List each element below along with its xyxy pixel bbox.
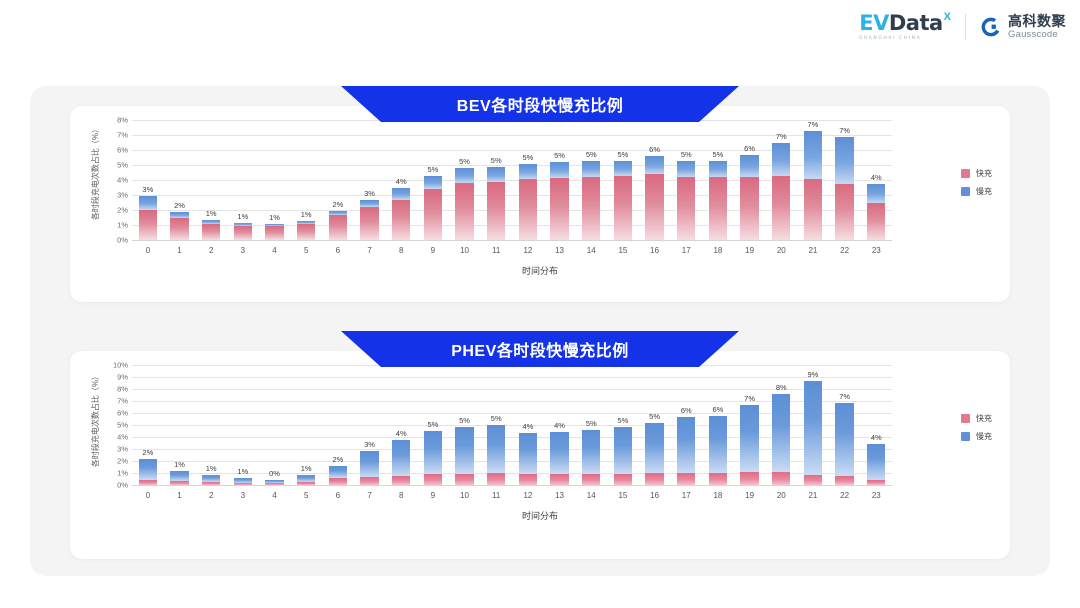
bar-stack[interactable]: [392, 440, 410, 485]
y-tick-label: 6%: [117, 409, 128, 418]
bar-value-label: 1%: [237, 467, 248, 476]
bar-column[interactable]: 4%: [512, 365, 544, 485]
bar-segment-fast[interactable]: [550, 474, 568, 485]
bar-segment-slow[interactable]: [360, 451, 378, 476]
bar-column[interactable]: 1%: [290, 365, 322, 485]
plot-area-phev: 各时段充电次数占比（%） 0%1%2%3%4%5%6%7%8%9%10% 2%1…: [70, 351, 1010, 559]
bar-column[interactable]: 8%: [765, 365, 797, 485]
chart-block-bev: BEV各时段快慢充比例 各时段充电次数占比（%） 0%1%2%3%4%5%6%7…: [30, 86, 1050, 318]
x-tick-label: 1: [164, 246, 196, 255]
bar-segment-fast[interactable]: [772, 176, 790, 241]
bar-segment-fast[interactable]: [234, 226, 252, 240]
bar-column[interactable]: 5%: [480, 120, 512, 240]
bar-value-label: 5%: [491, 156, 502, 165]
x-tick-label: 4: [259, 246, 291, 255]
legend-label: 快充: [976, 413, 992, 424]
bar-segment-fast[interactable]: [297, 482, 315, 485]
bar-segment-fast[interactable]: [424, 474, 442, 485]
bar-stack[interactable]: [519, 164, 537, 241]
legend-item[interactable]: 快充: [961, 413, 992, 424]
bar-stack[interactable]: [709, 161, 727, 240]
bar-segment-fast[interactable]: [329, 215, 347, 240]
gausscode-mark-icon: [980, 16, 1002, 38]
bar-column[interactable]: 2%: [164, 120, 196, 240]
bar-segment-slow[interactable]: [455, 427, 473, 473]
bar-column[interactable]: 9%: [797, 365, 829, 485]
bar-stack[interactable]: [265, 480, 283, 485]
evdata-logo-ev: EV: [859, 13, 889, 34]
gridline: [132, 485, 892, 486]
bar-value-label: 1%: [301, 464, 312, 473]
bar-segment-slow[interactable]: [772, 394, 790, 472]
y-tick-label: 4%: [117, 433, 128, 442]
bar-segment-slow[interactable]: [645, 423, 663, 473]
bar-column[interactable]: 6%: [670, 365, 702, 485]
bar-segment-slow[interactable]: [550, 432, 568, 473]
bar-value-label: 7%: [839, 392, 850, 401]
bar-segment-fast[interactable]: [614, 176, 632, 240]
bar-segment-slow[interactable]: [582, 161, 600, 178]
bar-segment-slow[interactable]: [519, 164, 537, 179]
chart-title-bev: BEV各时段快慢充比例: [457, 92, 623, 116]
bar-segment-slow[interactable]: [835, 403, 853, 476]
bar-segment-fast[interactable]: [519, 179, 537, 241]
x-tick-label: 9: [417, 491, 449, 500]
bar-segment-fast[interactable]: [867, 203, 885, 240]
bar-value-label: 4%: [554, 421, 565, 430]
bar-value-label: 3%: [142, 185, 153, 194]
bar-segment-fast[interactable]: [329, 478, 347, 485]
bar-stack[interactable]: [772, 394, 790, 485]
bar-stack[interactable]: [455, 168, 473, 240]
evdata-logo-superscript-icon: X: [944, 11, 951, 23]
gausscode-logo: 高科数聚 Gausscode: [980, 14, 1066, 40]
bar-value-label: 7%: [839, 126, 850, 135]
bar-stack[interactable]: [867, 444, 885, 485]
legend-phev: 快充慢充: [961, 413, 992, 442]
bar-column[interactable]: 5%: [417, 120, 449, 240]
bar-segment-fast[interactable]: [772, 472, 790, 485]
bar-segment-fast[interactable]: [709, 177, 727, 240]
legend-swatch: [961, 187, 970, 196]
bar-value-label: 5%: [491, 414, 502, 423]
bar-segment-slow[interactable]: [614, 427, 632, 473]
bar-value-label: 2%: [332, 455, 343, 464]
bar-stack[interactable]: [709, 416, 727, 485]
bar-stack[interactable]: [519, 433, 537, 485]
bar-segment-fast[interactable]: [392, 200, 410, 241]
bar-segment-fast[interactable]: [202, 224, 220, 241]
bar-segment-slow[interactable]: [392, 440, 410, 476]
bar-value-label: 4%: [871, 433, 882, 442]
bar-segment-slow[interactable]: [329, 466, 347, 478]
x-tick-label: 3: [227, 246, 259, 255]
x-tick-label: 23: [860, 491, 892, 500]
bar-segment-slow[interactable]: [614, 161, 632, 177]
bar-value-label: 5%: [554, 151, 565, 160]
bar-stack[interactable]: [740, 155, 758, 241]
bar-column[interactable]: 4%: [544, 365, 576, 485]
bar-segment-slow[interactable]: [360, 200, 378, 208]
gausscode-logo-en: Gausscode: [1008, 30, 1066, 40]
bar-value-label: 5%: [617, 150, 628, 159]
legend-swatch: [961, 169, 970, 178]
bar-column[interactable]: 1%: [259, 120, 291, 240]
bar-value-label: 4%: [396, 177, 407, 186]
bar-segment-slow[interactable]: [709, 416, 727, 473]
bar-segment-slow[interactable]: [772, 143, 790, 176]
bar-value-label: 3%: [364, 189, 375, 198]
bar-value-label: 5%: [681, 150, 692, 159]
bar-segment-fast[interactable]: [170, 218, 188, 240]
bar-segment-fast[interactable]: [804, 179, 822, 240]
x-tick-label: 0: [132, 246, 164, 255]
bar-segment-fast[interactable]: [677, 177, 695, 240]
bar-column[interactable]: 6%: [639, 120, 671, 240]
bar-segment-slow[interactable]: [202, 475, 220, 482]
bar-segment-fast[interactable]: [202, 482, 220, 485]
bar-stack[interactable]: [835, 403, 853, 485]
bar-segment-fast[interactable]: [645, 473, 663, 485]
bar-stack[interactable]: [202, 475, 220, 485]
bar-stack[interactable]: [170, 212, 188, 240]
bar-column[interactable]: 7%: [765, 120, 797, 240]
bar-stack[interactable]: [487, 167, 505, 241]
y-tick-label: 4%: [117, 176, 128, 185]
bar-stack[interactable]: [835, 137, 853, 240]
bar-value-label: 5%: [459, 157, 470, 166]
bar-column[interactable]: 4%: [385, 120, 417, 240]
bar-column[interactable]: 4%: [860, 365, 892, 485]
bar-column[interactable]: 5%: [702, 120, 734, 240]
bar-segment-fast[interactable]: [234, 483, 252, 485]
plot-area-bev: 各时段充电次数占比（%） 0%1%2%3%4%5%6%7%8% 3%2%1%1%…: [70, 106, 1010, 302]
bar-column[interactable]: 5%: [607, 365, 639, 485]
bar-value-label: 7%: [744, 394, 755, 403]
x-tick-label: 3: [227, 491, 259, 500]
y-tick-label: 2%: [117, 206, 128, 215]
bar-stack[interactable]: [804, 381, 822, 485]
x-tick-label: 7: [354, 491, 386, 500]
bar-segment-fast[interactable]: [265, 483, 283, 485]
bar-segment-fast[interactable]: [265, 226, 283, 240]
bar-stack[interactable]: [677, 161, 695, 240]
bar-segment-slow[interactable]: [804, 381, 822, 475]
y-tick-label: 8%: [117, 385, 128, 394]
bar-segment-fast[interactable]: [709, 473, 727, 485]
bar-stack[interactable]: [455, 427, 473, 485]
bar-stack[interactable]: [582, 161, 600, 241]
bar-segment-slow[interactable]: [424, 176, 442, 190]
legend-item[interactable]: 慢充: [961, 431, 992, 442]
bar-stack[interactable]: [329, 211, 347, 240]
bar-value-label: 1%: [269, 213, 280, 222]
chart-card-bev: 各时段充电次数占比（%） 0%1%2%3%4%5%6%7%8% 3%2%1%1%…: [70, 106, 1010, 302]
bar-column[interactable]: 1%: [227, 120, 259, 240]
x-tick-label: 2: [195, 491, 227, 500]
bar-stack[interactable]: [614, 161, 632, 241]
bar-stack[interactable]: [772, 143, 790, 241]
bar-value-label: 5%: [586, 419, 597, 428]
y-tick-label: 3%: [117, 445, 128, 454]
bar-stack[interactable]: [139, 459, 157, 485]
x-tick-label: 19: [734, 246, 766, 255]
bar-value-label: 4%: [871, 173, 882, 182]
bar-segment-fast[interactable]: [360, 477, 378, 485]
x-tick-label: 8: [385, 246, 417, 255]
bar-value-label: 5%: [713, 150, 724, 159]
x-tick-label: 5: [290, 246, 322, 255]
bar-value-label: 9%: [808, 370, 819, 379]
bar-segment-fast[interactable]: [487, 182, 505, 241]
bar-stack[interactable]: [614, 427, 632, 485]
bar-column[interactable]: 5%: [544, 120, 576, 240]
bar-segment-slow[interactable]: [487, 425, 505, 473]
bar-column[interactable]: 5%: [449, 120, 481, 240]
bar-stack[interactable]: [550, 432, 568, 485]
legend-swatch: [961, 432, 970, 441]
bar-segment-fast[interactable]: [645, 174, 663, 240]
chart-block-phev: PHEV各时段快慢充比例 各时段充电次数占比（%） 0%1%2%3%4%5%6%…: [30, 331, 1050, 576]
page-header: EV Data X SHANGHAI CHINA 高科数聚 Gausscode: [0, 0, 1080, 62]
bar-segment-fast[interactable]: [360, 207, 378, 240]
y-tick-label: 1%: [117, 469, 128, 478]
bar-segment-fast[interactable]: [582, 177, 600, 240]
bar-stack[interactable]: [360, 200, 378, 241]
bar-stack[interactable]: [645, 423, 663, 485]
x-tick-label: 9: [417, 246, 449, 255]
x-tick-label: 4: [259, 491, 291, 500]
bar-series-bev: 3%2%1%1%1%1%2%3%4%5%5%5%5%5%5%5%6%5%5%6%…: [132, 120, 892, 240]
bar-segment-slow[interactable]: [804, 131, 822, 179]
x-tick-label: 21: [797, 491, 829, 500]
bar-stack[interactable]: [360, 451, 378, 485]
bar-value-label: 1%: [206, 209, 217, 218]
y-tick-label: 5%: [117, 421, 128, 430]
x-tick-label: 12: [512, 246, 544, 255]
bar-column[interactable]: 6%: [702, 365, 734, 485]
x-tick-label: 15: [607, 246, 639, 255]
bar-segment-slow[interactable]: [709, 161, 727, 177]
bar-segment-slow[interactable]: [392, 188, 410, 200]
y-tick-label: 0%: [117, 481, 128, 490]
bar-stack[interactable]: [740, 405, 758, 485]
bar-stack[interactable]: [297, 475, 315, 485]
legend-label: 慢充: [976, 186, 992, 197]
bar-segment-slow[interactable]: [677, 161, 695, 177]
bar-stack[interactable]: [804, 131, 822, 240]
y-tick-label: 7%: [117, 131, 128, 140]
bar-column[interactable]: 1%: [227, 365, 259, 485]
bar-segment-fast[interactable]: [455, 183, 473, 240]
bar-stack[interactable]: [550, 162, 568, 240]
bar-stack[interactable]: [867, 184, 885, 240]
x-tick-label: 13: [544, 491, 576, 500]
bar-column[interactable]: 5%: [639, 365, 671, 485]
bar-column[interactable]: 5%: [607, 120, 639, 240]
x-tick-label: 1: [164, 491, 196, 500]
bar-segment-fast[interactable]: [297, 224, 315, 241]
bar-segment-fast[interactable]: [455, 474, 473, 485]
bar-column[interactable]: 5%: [575, 120, 607, 240]
bar-segment-fast[interactable]: [139, 480, 157, 485]
bar-column[interactable]: 5%: [480, 365, 512, 485]
bar-column[interactable]: 1%: [164, 365, 196, 485]
bar-value-label: 4%: [396, 429, 407, 438]
bar-stack[interactable]: [265, 224, 283, 241]
bar-segment-slow[interactable]: [170, 471, 188, 482]
bar-column[interactable]: 7%: [734, 365, 766, 485]
bar-stack[interactable]: [234, 478, 252, 485]
bar-segment-slow[interactable]: [677, 417, 695, 473]
bar-value-label: 5%: [522, 153, 533, 162]
bar-value-label: 1%: [206, 464, 217, 473]
bar-segment-slow[interactable]: [550, 162, 568, 178]
bar-column[interactable]: 1%: [195, 365, 227, 485]
bar-column[interactable]: 6%: [734, 120, 766, 240]
x-tick-label: 16: [639, 246, 671, 255]
bar-segment-slow[interactable]: [740, 155, 758, 178]
bar-column[interactable]: 3%: [354, 365, 386, 485]
x-tick-label: 6: [322, 491, 354, 500]
bar-stack[interactable]: [297, 221, 315, 240]
bar-stack[interactable]: [392, 188, 410, 241]
bar-segment-slow[interactable]: [645, 156, 663, 174]
y-tick-label: 10%: [113, 361, 128, 370]
x-tick-label: 21: [797, 246, 829, 255]
bar-stack[interactable]: [234, 223, 252, 240]
x-tick-label: 17: [670, 491, 702, 500]
bar-column[interactable]: 5%: [417, 365, 449, 485]
bar-stack[interactable]: [487, 425, 505, 485]
y-tick-label: 9%: [117, 373, 128, 382]
bar-column[interactable]: 2%: [132, 365, 164, 485]
bar-segment-slow[interactable]: [519, 433, 537, 473]
charts-panel: BEV各时段快慢充比例 各时段充电次数占比（%） 0%1%2%3%4%5%6%7…: [30, 86, 1050, 576]
bar-segment-fast[interactable]: [614, 474, 632, 485]
bar-segment-fast[interactable]: [519, 474, 537, 485]
bar-stack[interactable]: [202, 220, 220, 240]
bar-segment-slow[interactable]: [867, 184, 885, 204]
legend-label: 快充: [976, 168, 992, 179]
bar-segment-slow[interactable]: [867, 444, 885, 480]
y-tick-label: 6%: [117, 146, 128, 155]
bar-column[interactable]: 2%: [322, 120, 354, 240]
bar-segment-slow[interactable]: [740, 405, 758, 472]
bar-value-label: 5%: [427, 165, 438, 174]
bar-value-label: 2%: [174, 201, 185, 210]
bar-segment-fast[interactable]: [392, 476, 410, 485]
x-axis-label-bev: 时间分布: [70, 264, 1010, 277]
y-tick-label: 1%: [117, 221, 128, 230]
bar-stack[interactable]: [582, 430, 600, 485]
legend-item[interactable]: 快充: [961, 168, 992, 179]
bar-segment-fast[interactable]: [677, 473, 695, 485]
bar-column[interactable]: 5%: [449, 365, 481, 485]
x-tick-label: 7: [354, 246, 386, 255]
bar-stack[interactable]: [139, 196, 157, 240]
x-tick-label: 12: [512, 491, 544, 500]
bar-column[interactable]: 4%: [385, 365, 417, 485]
bar-column[interactable]: 5%: [575, 365, 607, 485]
y-tick-label: 0%: [117, 236, 128, 245]
bar-segment-fast[interactable]: [740, 177, 758, 240]
bar-column[interactable]: 3%: [354, 120, 386, 240]
bar-value-label: 0%: [269, 469, 280, 478]
bar-segment-slow[interactable]: [424, 431, 442, 474]
bar-segment-fast[interactable]: [867, 480, 885, 485]
bar-column[interactable]: 7%: [797, 120, 829, 240]
x-tick-label: 18: [702, 491, 734, 500]
bar-segment-slow[interactable]: [139, 459, 157, 480]
bar-column[interactable]: 5%: [670, 120, 702, 240]
bar-stack[interactable]: [645, 156, 663, 240]
x-tick-label: 6: [322, 246, 354, 255]
bar-column[interactable]: 1%: [290, 120, 322, 240]
bar-segment-slow[interactable]: [297, 475, 315, 482]
bar-segment-fast[interactable]: [582, 474, 600, 485]
bar-segment-slow[interactable]: [487, 167, 505, 182]
bar-segment-fast[interactable]: [835, 184, 853, 240]
bar-column[interactable]: 1%: [195, 120, 227, 240]
bar-column[interactable]: 5%: [512, 120, 544, 240]
x-tick-label: 8: [385, 491, 417, 500]
bar-value-label: 2%: [332, 200, 343, 209]
bar-column[interactable]: 4%: [860, 120, 892, 240]
y-tick-label: 2%: [117, 457, 128, 466]
x-tick-label: 5: [290, 491, 322, 500]
gridline: [132, 240, 892, 241]
y-axis-ticks-phev: 0%1%2%3%4%5%6%7%8%9%10%: [98, 351, 128, 559]
bar-column[interactable]: 0%: [259, 365, 291, 485]
evdata-logo-data: Data: [889, 13, 943, 34]
bar-segment-fast[interactable]: [170, 481, 188, 485]
bar-segment-slow[interactable]: [835, 137, 853, 184]
bar-column[interactable]: 7%: [829, 365, 861, 485]
bar-segment-slow[interactable]: [139, 196, 157, 210]
bar-stack[interactable]: [424, 431, 442, 485]
chart-card-phev: 各时段充电次数占比（%） 0%1%2%3%4%5%6%7%8%9%10% 2%1…: [70, 351, 1010, 559]
bar-value-label: 7%: [808, 120, 819, 129]
bar-segment-fast[interactable]: [424, 189, 442, 240]
bar-stack[interactable]: [424, 176, 442, 241]
x-tick-label: 11: [480, 491, 512, 500]
bar-column[interactable]: 2%: [322, 365, 354, 485]
x-tick-label: 11: [480, 246, 512, 255]
bar-column[interactable]: 3%: [132, 120, 164, 240]
bar-value-label: 2%: [142, 448, 153, 457]
bar-value-label: 4%: [522, 422, 533, 431]
bar-segment-slow[interactable]: [582, 430, 600, 473]
legend-item[interactable]: 慢充: [961, 186, 992, 197]
bar-segment-slow[interactable]: [455, 168, 473, 183]
bar-stack[interactable]: [677, 417, 695, 485]
bar-segment-fast[interactable]: [139, 210, 157, 240]
bar-value-label: 5%: [617, 416, 628, 425]
bar-column[interactable]: 7%: [829, 120, 861, 240]
bar-value-label: 7%: [776, 132, 787, 141]
evdata-logo: EV Data X SHANGHAI CHINA: [859, 13, 951, 41]
bar-segment-fast[interactable]: [804, 475, 822, 485]
bar-segment-fast[interactable]: [835, 476, 853, 485]
bar-segment-fast[interactable]: [487, 473, 505, 485]
chart-title-banner-bev: BEV各时段快慢充比例: [341, 86, 739, 122]
bar-segment-fast[interactable]: [550, 178, 568, 240]
bar-segment-fast[interactable]: [740, 472, 758, 485]
bar-stack[interactable]: [329, 466, 347, 485]
bar-stack[interactable]: [170, 471, 188, 485]
bar-value-label: 5%: [459, 416, 470, 425]
